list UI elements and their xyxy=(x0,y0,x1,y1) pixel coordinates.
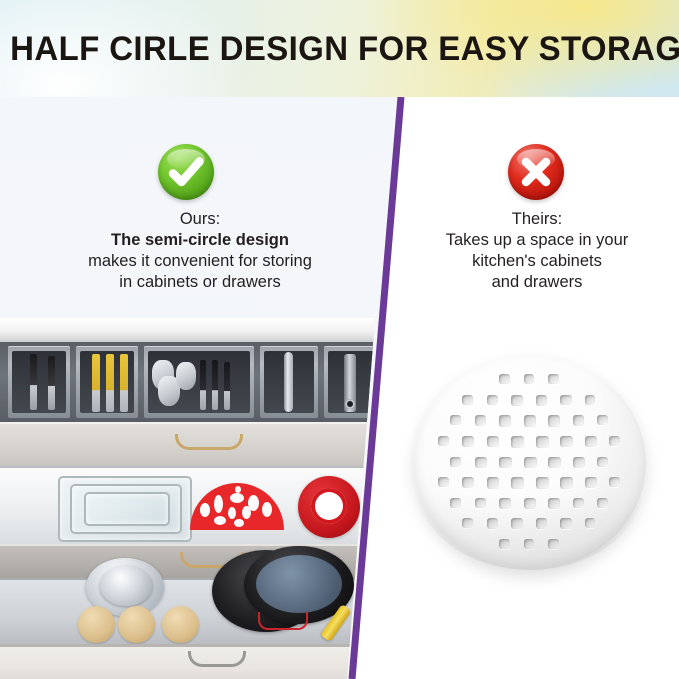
red-semicircle-trivet xyxy=(190,483,284,530)
infographic-page: HALF CIRLE DESIGN FOR EASY STORAGE xyxy=(0,0,679,679)
drawer-handle[interactable] xyxy=(188,651,246,667)
trivet-hole xyxy=(609,436,620,446)
ours-headline: The semi-circle design xyxy=(22,230,378,251)
cross-glyph xyxy=(508,144,564,200)
trivet-hole xyxy=(548,539,559,549)
yellow-handle-knife-icon xyxy=(92,354,100,412)
fork-icon xyxy=(200,360,206,410)
drawer-handle[interactable] xyxy=(175,434,243,450)
trivet-hole xyxy=(597,457,608,468)
yellow-handle-knife-icon xyxy=(120,354,128,412)
trivet-hole xyxy=(524,457,537,469)
trivet-hole xyxy=(524,539,535,549)
wooden-cutting-board xyxy=(78,606,115,643)
cross-circle-icon xyxy=(508,144,564,200)
trivet-hole xyxy=(499,415,511,426)
trivet-hole xyxy=(585,395,596,405)
spoon-icon xyxy=(176,362,196,390)
trivet-hole xyxy=(573,415,585,426)
trivet-hole xyxy=(499,498,511,509)
ours-label: Ours: xyxy=(22,209,378,230)
trivet-hole xyxy=(462,477,474,488)
trivet-hole xyxy=(462,436,474,447)
trivet-hole xyxy=(548,498,560,509)
trivet-hole xyxy=(573,457,585,468)
trivet-hole xyxy=(511,518,523,529)
trivet-hole xyxy=(524,498,536,509)
trivet-hole xyxy=(487,477,499,488)
fork-icon xyxy=(224,362,230,410)
trivet-hole xyxy=(597,415,608,425)
knife-icon xyxy=(48,356,55,410)
trivet-hole xyxy=(585,477,597,488)
ours-line-2: makes it convenient for storing xyxy=(22,251,378,272)
pan-wire-rack xyxy=(258,612,308,630)
trivet-hole xyxy=(438,436,449,446)
drawer-front xyxy=(0,422,400,468)
fork-icon xyxy=(212,360,218,410)
cutlery-drawer xyxy=(0,340,400,424)
wooden-cutting-board xyxy=(162,606,199,643)
trivet-hole xyxy=(511,477,524,489)
trivet-hole xyxy=(462,395,473,405)
theirs-line-2: Takes up a space in your xyxy=(412,230,662,251)
trivet-hole xyxy=(560,436,572,447)
trivet-hole xyxy=(450,415,461,425)
trivet-hole xyxy=(487,436,499,447)
trivet-hole xyxy=(438,477,449,487)
trivet-hole xyxy=(499,374,510,384)
trivet-body xyxy=(414,356,646,570)
drawer-front xyxy=(0,644,400,679)
trivet-hole xyxy=(499,457,512,469)
trivet-hole xyxy=(475,457,487,468)
cookware-drawer xyxy=(0,578,400,646)
trivet-hole xyxy=(560,395,571,405)
rolling-pin-icon xyxy=(284,352,293,412)
trivet-hole xyxy=(548,415,560,426)
ours-line-3: in cabinets or drawers xyxy=(22,272,378,293)
red-cup-and-saucer xyxy=(298,476,360,538)
header-banner: HALF CIRLE DESIGN FOR EASY STORAGE xyxy=(0,0,679,97)
trivet-hole xyxy=(548,457,561,469)
trivet-hole xyxy=(511,436,524,448)
theirs-label: Theirs: xyxy=(412,209,662,230)
theirs-line-4: and drawers xyxy=(412,272,662,293)
trivet-hole xyxy=(560,477,572,488)
trivet-hole xyxy=(462,518,473,528)
trivet-hole xyxy=(475,415,487,426)
bottle-opener-icon xyxy=(344,354,356,412)
kitchen-drawers-photo xyxy=(0,318,400,679)
trivet-hole xyxy=(536,477,549,489)
trivet-hole xyxy=(560,518,571,528)
theirs-line-3: kitchen's cabinets xyxy=(412,251,662,272)
glass-container xyxy=(84,492,170,526)
ours-text-block: Ours: The semi-circle design makes it co… xyxy=(22,209,378,293)
knife-icon xyxy=(30,354,37,410)
trivet-hole xyxy=(487,395,498,405)
trivet-hole xyxy=(609,477,620,487)
trivet-hole xyxy=(450,498,461,508)
countertop xyxy=(0,318,400,340)
trivet-hole xyxy=(524,415,536,426)
trivet-hole xyxy=(450,457,461,468)
trivet-hole xyxy=(511,395,523,406)
trivet-hole xyxy=(585,436,597,447)
steel-pot-lid xyxy=(100,566,152,606)
trivet-hole xyxy=(536,518,548,529)
trivet-hole xyxy=(487,518,498,528)
trivet-hole xyxy=(499,539,510,549)
trivet-hole xyxy=(475,498,487,509)
trivet-hole xyxy=(548,374,559,384)
wooden-cutting-board xyxy=(118,606,155,643)
theirs-text-block: Theirs: Takes up a space in your kitchen… xyxy=(412,209,662,293)
tray-compartment xyxy=(8,346,70,418)
trivet-hole xyxy=(536,395,548,406)
trivet-hole xyxy=(585,518,596,528)
trivet-hole xyxy=(573,498,585,509)
page-title: HALF CIRLE DESIGN FOR EASY STORAGE xyxy=(10,29,669,69)
trivet-hole xyxy=(536,436,549,448)
trivet-hole xyxy=(597,498,608,508)
pan-surface xyxy=(256,555,342,613)
check-circle-icon xyxy=(158,144,214,200)
tray-inner xyxy=(12,351,66,413)
container-drawer xyxy=(0,466,400,546)
trivet-hole xyxy=(524,374,535,384)
check-glyph xyxy=(158,144,214,200)
white-round-trivet xyxy=(414,356,646,570)
yellow-handle-knife-icon xyxy=(106,354,114,412)
